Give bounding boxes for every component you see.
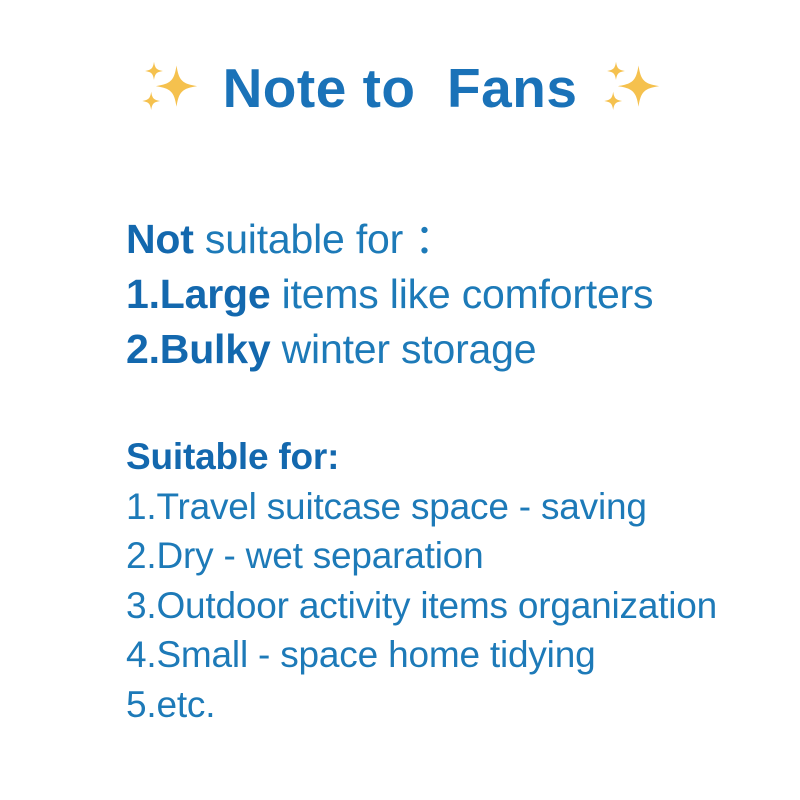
suitable-item: 4.Small - space home tidying: [126, 630, 766, 680]
suitable-block: Suitable for: 1.Travel suitcase space - …: [126, 432, 766, 729]
not-suitable-item: 1.Large items like comforters: [126, 267, 766, 322]
not-suitable-item-rest: winter storage: [270, 326, 536, 372]
not-suitable-item-bold: 1.Large: [126, 271, 270, 317]
note-to-fans-poster: Note to Fans Not suitable for ： 1.Large …: [0, 0, 800, 800]
page-title: Note to Fans: [223, 61, 578, 116]
suitable-item: 5.etc.: [126, 680, 766, 730]
not-suitable-item-bold: 2.Bulky: [126, 326, 270, 372]
not-suitable-heading: Not suitable for ：: [126, 212, 766, 267]
suitable-item: 1.Travel suitcase space - saving: [126, 482, 766, 532]
sparkles-icon-left: [139, 58, 199, 118]
page-title-row: Note to Fans: [0, 58, 800, 118]
not-suitable-item-rest: items like comforters: [270, 271, 653, 317]
suitable-heading-text: Suitable for:: [126, 436, 339, 477]
suitable-item: 2.Dry - wet separation: [126, 531, 766, 581]
not-suitable-block: Not suitable for ： 1.Large items like co…: [126, 212, 766, 377]
suitable-item: 3.Outdoor activity items organization: [126, 581, 766, 631]
sparkles-icon-right: [601, 58, 661, 118]
not-suitable-item: 2.Bulky winter storage: [126, 322, 766, 377]
suitable-heading: Suitable for:: [126, 432, 766, 482]
not-suitable-heading-bold: Not: [126, 216, 194, 262]
not-suitable-heading-rest: suitable for ：: [194, 216, 455, 262]
